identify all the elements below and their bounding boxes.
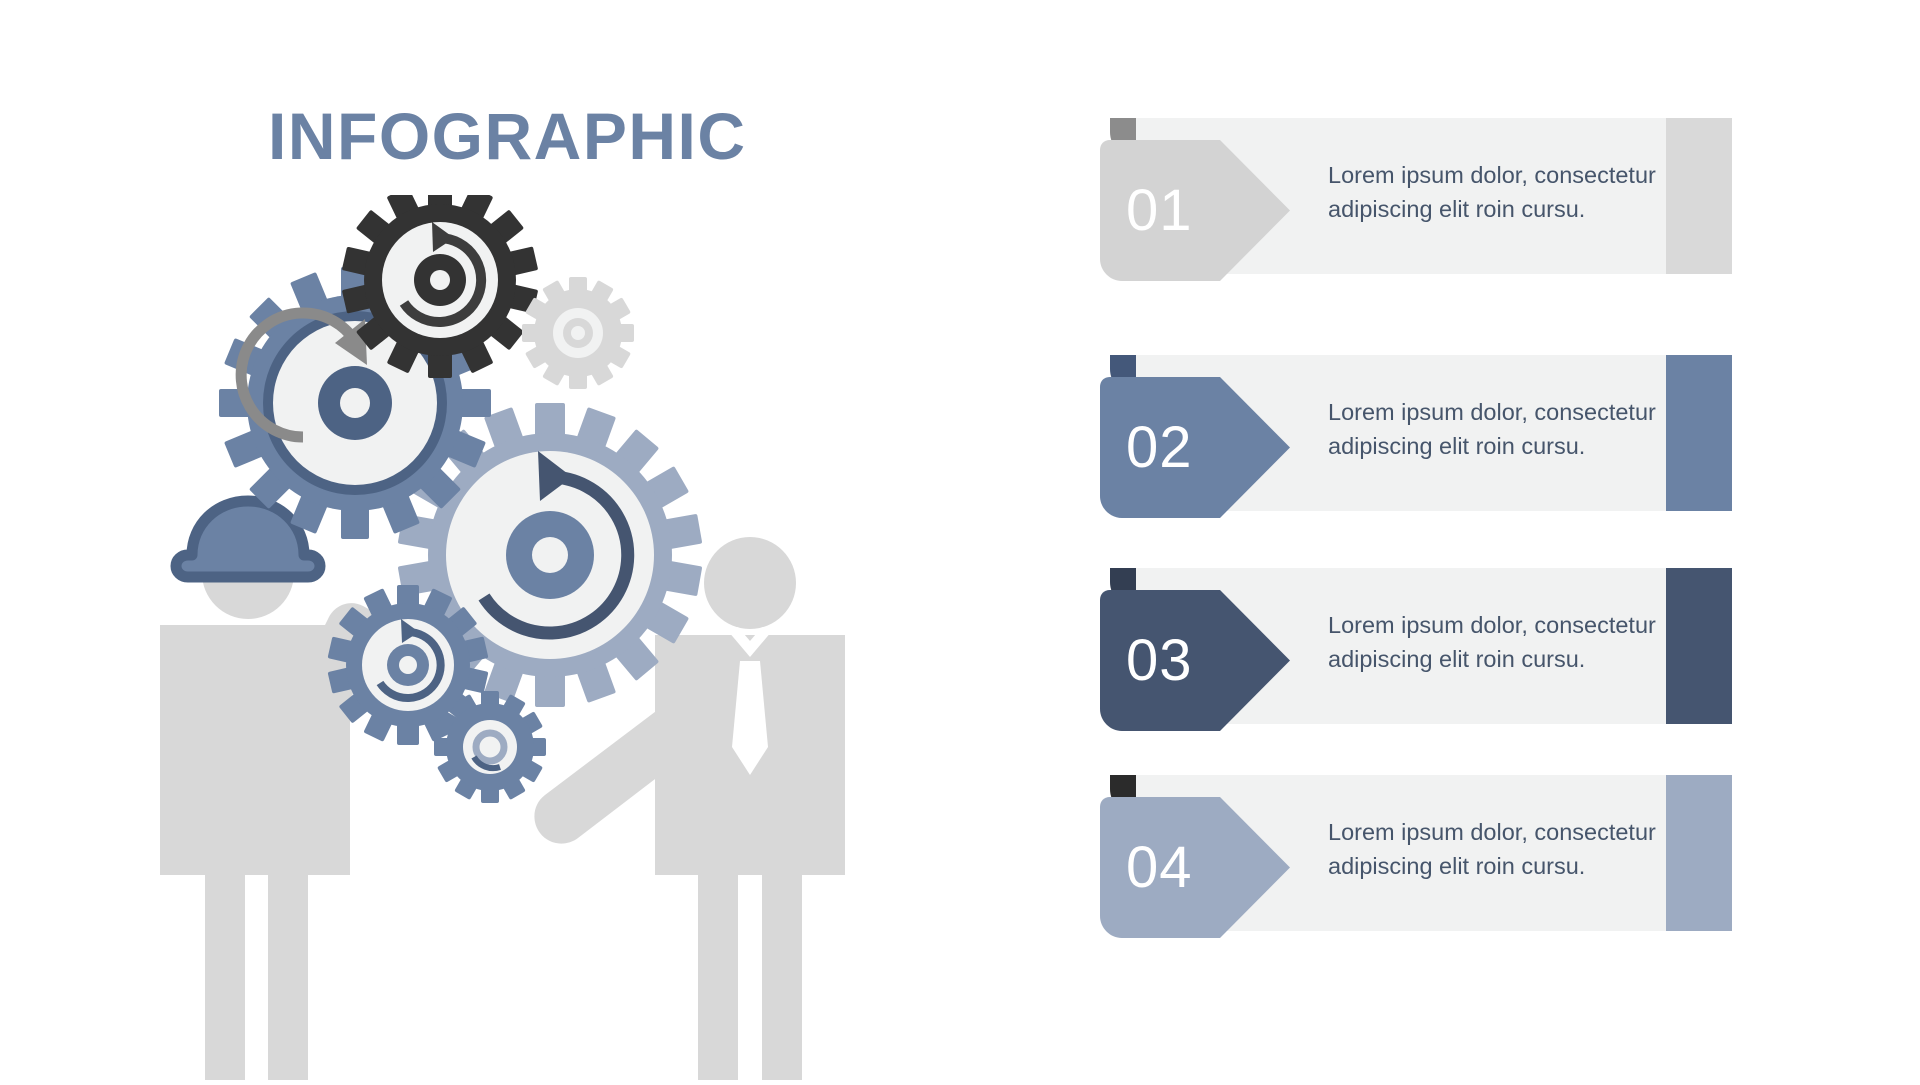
item-end-cap [1666, 775, 1732, 931]
item-number-badge[interactable]: 01 [1100, 140, 1290, 281]
gears-and-workers-illustration [150, 195, 950, 1080]
illustration-panel: INFOGRAPHIC [0, 0, 1020, 1080]
item-number: 04 [1126, 834, 1193, 901]
gear-gray-tiny [522, 277, 634, 389]
item-description: Lorem ipsum dolor, consectetur adipiscin… [1328, 395, 1668, 464]
slide-root: INFOGRAPHIC [0, 0, 1920, 1080]
item-end-cap [1666, 355, 1732, 511]
item-number: 02 [1126, 414, 1193, 481]
list-item[interactable]: 01 Lorem ipsum dolor, consectetur adipis… [1100, 118, 1732, 281]
item-number: 03 [1126, 627, 1193, 694]
item-number-badge[interactable]: 04 [1100, 797, 1290, 938]
item-number-badge[interactable]: 02 [1100, 377, 1290, 518]
item-end-cap [1666, 568, 1732, 724]
list-item[interactable]: 02 Lorem ipsum dolor, consectetur adipis… [1100, 355, 1732, 518]
item-description: Lorem ipsum dolor, consectetur adipiscin… [1328, 608, 1668, 677]
steps-list: 01 Lorem ipsum dolor, consectetur adipis… [1100, 0, 1800, 1080]
page-title: INFOGRAPHIC [268, 98, 747, 174]
item-number: 01 [1126, 177, 1193, 244]
item-description: Lorem ipsum dolor, consectetur adipiscin… [1328, 158, 1668, 227]
item-end-cap [1666, 118, 1732, 274]
item-number-badge[interactable]: 03 [1100, 590, 1290, 731]
item-description: Lorem ipsum dolor, consectetur adipiscin… [1328, 815, 1668, 884]
list-item[interactable]: 04 Lorem ipsum dolor, consectetur adipis… [1100, 775, 1732, 938]
worker-figure [160, 501, 384, 1080]
list-item[interactable]: 03 Lorem ipsum dolor, consectetur adipis… [1100, 568, 1732, 731]
